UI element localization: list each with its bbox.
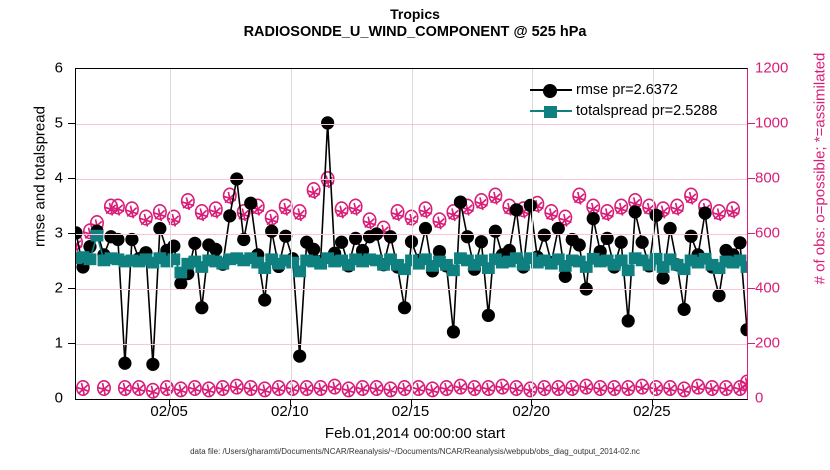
horizontal-gridline: [76, 179, 747, 180]
data-file-note: data file: /Users/gharamti/Documents/NCA…: [0, 447, 830, 456]
rmse-point: [629, 205, 642, 218]
rmse-point: [293, 350, 306, 363]
rmse-point: [482, 309, 495, 322]
page-title: Tropics: [0, 5, 830, 23]
chart-subtitle: RADIOSONDE_U_WIND_COMPONENT @ 525 hPa: [0, 23, 830, 42]
rmse-point: [622, 314, 635, 327]
rmse-point: [510, 203, 523, 216]
totalspread-point: [84, 253, 97, 265]
y-axis-right-tick-mark: [748, 178, 755, 179]
rmse-point: [335, 236, 348, 249]
rmse-point: [684, 230, 697, 243]
rmse-point: [307, 243, 320, 256]
rmse-point: [538, 229, 551, 242]
rmse-point: [461, 230, 474, 243]
rmse-point: [265, 225, 278, 238]
totalspread-point: [447, 264, 460, 276]
rmse-point: [650, 209, 663, 222]
x-axis-tick-mark: [411, 400, 412, 406]
rmse-point: [587, 212, 600, 225]
y-axis-right-tick-mark: [748, 233, 755, 234]
y-axis-left-tick-mark: [68, 123, 75, 124]
y-axis-left-tick-label: 0: [0, 390, 70, 407]
rmse-point: [489, 225, 502, 238]
y-axis-left-tick-mark: [68, 343, 75, 344]
rmse-point: [258, 293, 271, 306]
y-axis-right-label: # of obs: o=possible; *=assimilated: [812, 9, 829, 329]
rmse-point: [146, 358, 159, 371]
legend-label-rmse: rmse pr=2.6372: [576, 82, 678, 98]
y-axis-right-tick-label: 1200: [748, 60, 788, 77]
rmse-point: [636, 236, 649, 249]
horizontal-gridline: [76, 124, 747, 125]
rmse-point: [244, 197, 257, 210]
horizontal-gridline: [76, 289, 747, 290]
totalspread-point: [91, 230, 104, 242]
rmse-point: [398, 301, 411, 314]
rmse-point: [188, 237, 201, 250]
x-axis-tick-mark: [290, 400, 291, 406]
horizontal-gridline: [76, 344, 747, 345]
y-axis-left-tick-label: 1: [0, 335, 70, 352]
rmse-point: [733, 236, 746, 249]
x-axis-tick-mark: [652, 400, 653, 406]
rmse-point: [321, 116, 334, 129]
x-axis-label: Feb.01,2014 00:00:00 start: [0, 425, 830, 442]
horizontal-gridline: [76, 234, 747, 235]
rmse-point: [740, 323, 747, 336]
rmse-point: [475, 235, 488, 248]
totalspread-point: [293, 266, 306, 278]
rmse-point: [447, 325, 460, 338]
rmse-point: [384, 230, 397, 243]
rmse-marker-icon: [530, 83, 572, 97]
y-axis-right-tick-label: 0: [748, 390, 763, 407]
y-axis-left-tick-mark: [68, 233, 75, 234]
rmse-point: [573, 238, 586, 251]
rmse-point: [615, 236, 628, 249]
legend-item-totalspread[interactable]: totalspread pr=2.5288: [530, 100, 717, 121]
totalspread-point: [741, 261, 747, 273]
y-axis-right-tick-mark: [748, 288, 755, 289]
y-axis-left-tick-mark: [68, 178, 75, 179]
x-axis-tick-mark: [169, 400, 170, 406]
chart-title-block: Tropics RADIOSONDE_U_WIND_COMPONENT @ 52…: [0, 5, 830, 42]
rmse-point: [209, 243, 222, 256]
y-axis-right-tick-mark: [748, 343, 755, 344]
y-axis-left-label: rmse and totalspread: [32, 27, 49, 327]
rmse-point: [677, 303, 690, 316]
rmse-point: [195, 301, 208, 314]
totalspread-point: [622, 264, 635, 276]
rmse-point: [454, 196, 467, 209]
totalspread-marker-icon: [530, 104, 572, 118]
rmse-point: [118, 357, 131, 370]
legend-item-rmse[interactable]: rmse pr=2.6372: [530, 79, 717, 100]
rmse-point: [524, 199, 537, 212]
rmse-point: [698, 207, 711, 220]
y-axis-left-tick-mark: [68, 288, 75, 289]
rmse-point: [712, 289, 725, 302]
chart-legend: rmse pr=2.6372 totalspread pr=2.5288: [530, 79, 717, 121]
legend-label-totalspread: totalspread pr=2.5288: [576, 103, 717, 119]
rmse-point: [223, 209, 236, 222]
x-axis-tick-mark: [531, 400, 532, 406]
y-axis-right-tick-mark: [748, 123, 755, 124]
rmse-point: [657, 271, 670, 284]
